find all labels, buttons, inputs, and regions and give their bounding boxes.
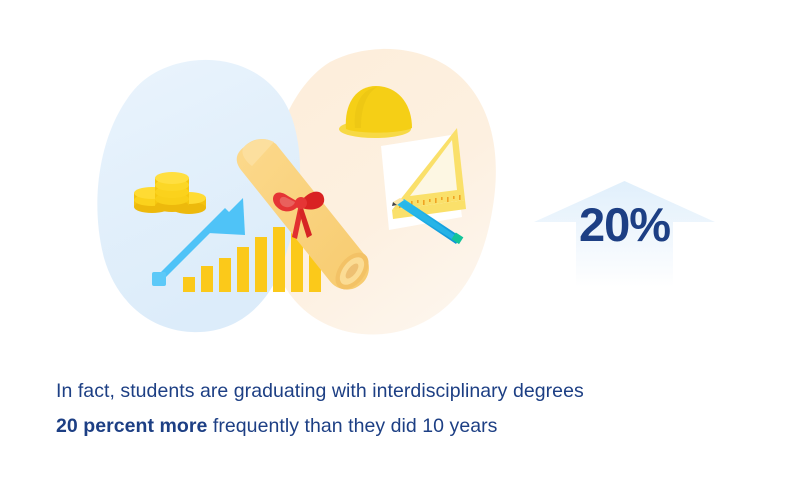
- caption-line-2: 20 percent more frequently than they did…: [56, 409, 756, 444]
- bar-2: [201, 266, 213, 292]
- caption-line-2-rest: frequently than they did 10 years: [207, 415, 497, 437]
- bar-6: [273, 227, 285, 292]
- stat-value: 20%: [527, 201, 722, 248]
- bar-5: [255, 237, 267, 292]
- bar-1: [183, 277, 195, 292]
- caption-line-1: In fact, students are graduating with in…: [56, 374, 756, 409]
- illustration-stat-panel: 20% In fact, students are graduating wit…: [0, 0, 801, 479]
- stat-badge: 20%: [527, 175, 722, 295]
- coin-stack-center: [155, 172, 189, 212]
- bar-3: [219, 258, 231, 292]
- caption-text: In fact, students are graduating with in…: [56, 374, 756, 444]
- caption-emphasis: 20 percent more: [56, 415, 207, 437]
- bar-4: [237, 247, 249, 292]
